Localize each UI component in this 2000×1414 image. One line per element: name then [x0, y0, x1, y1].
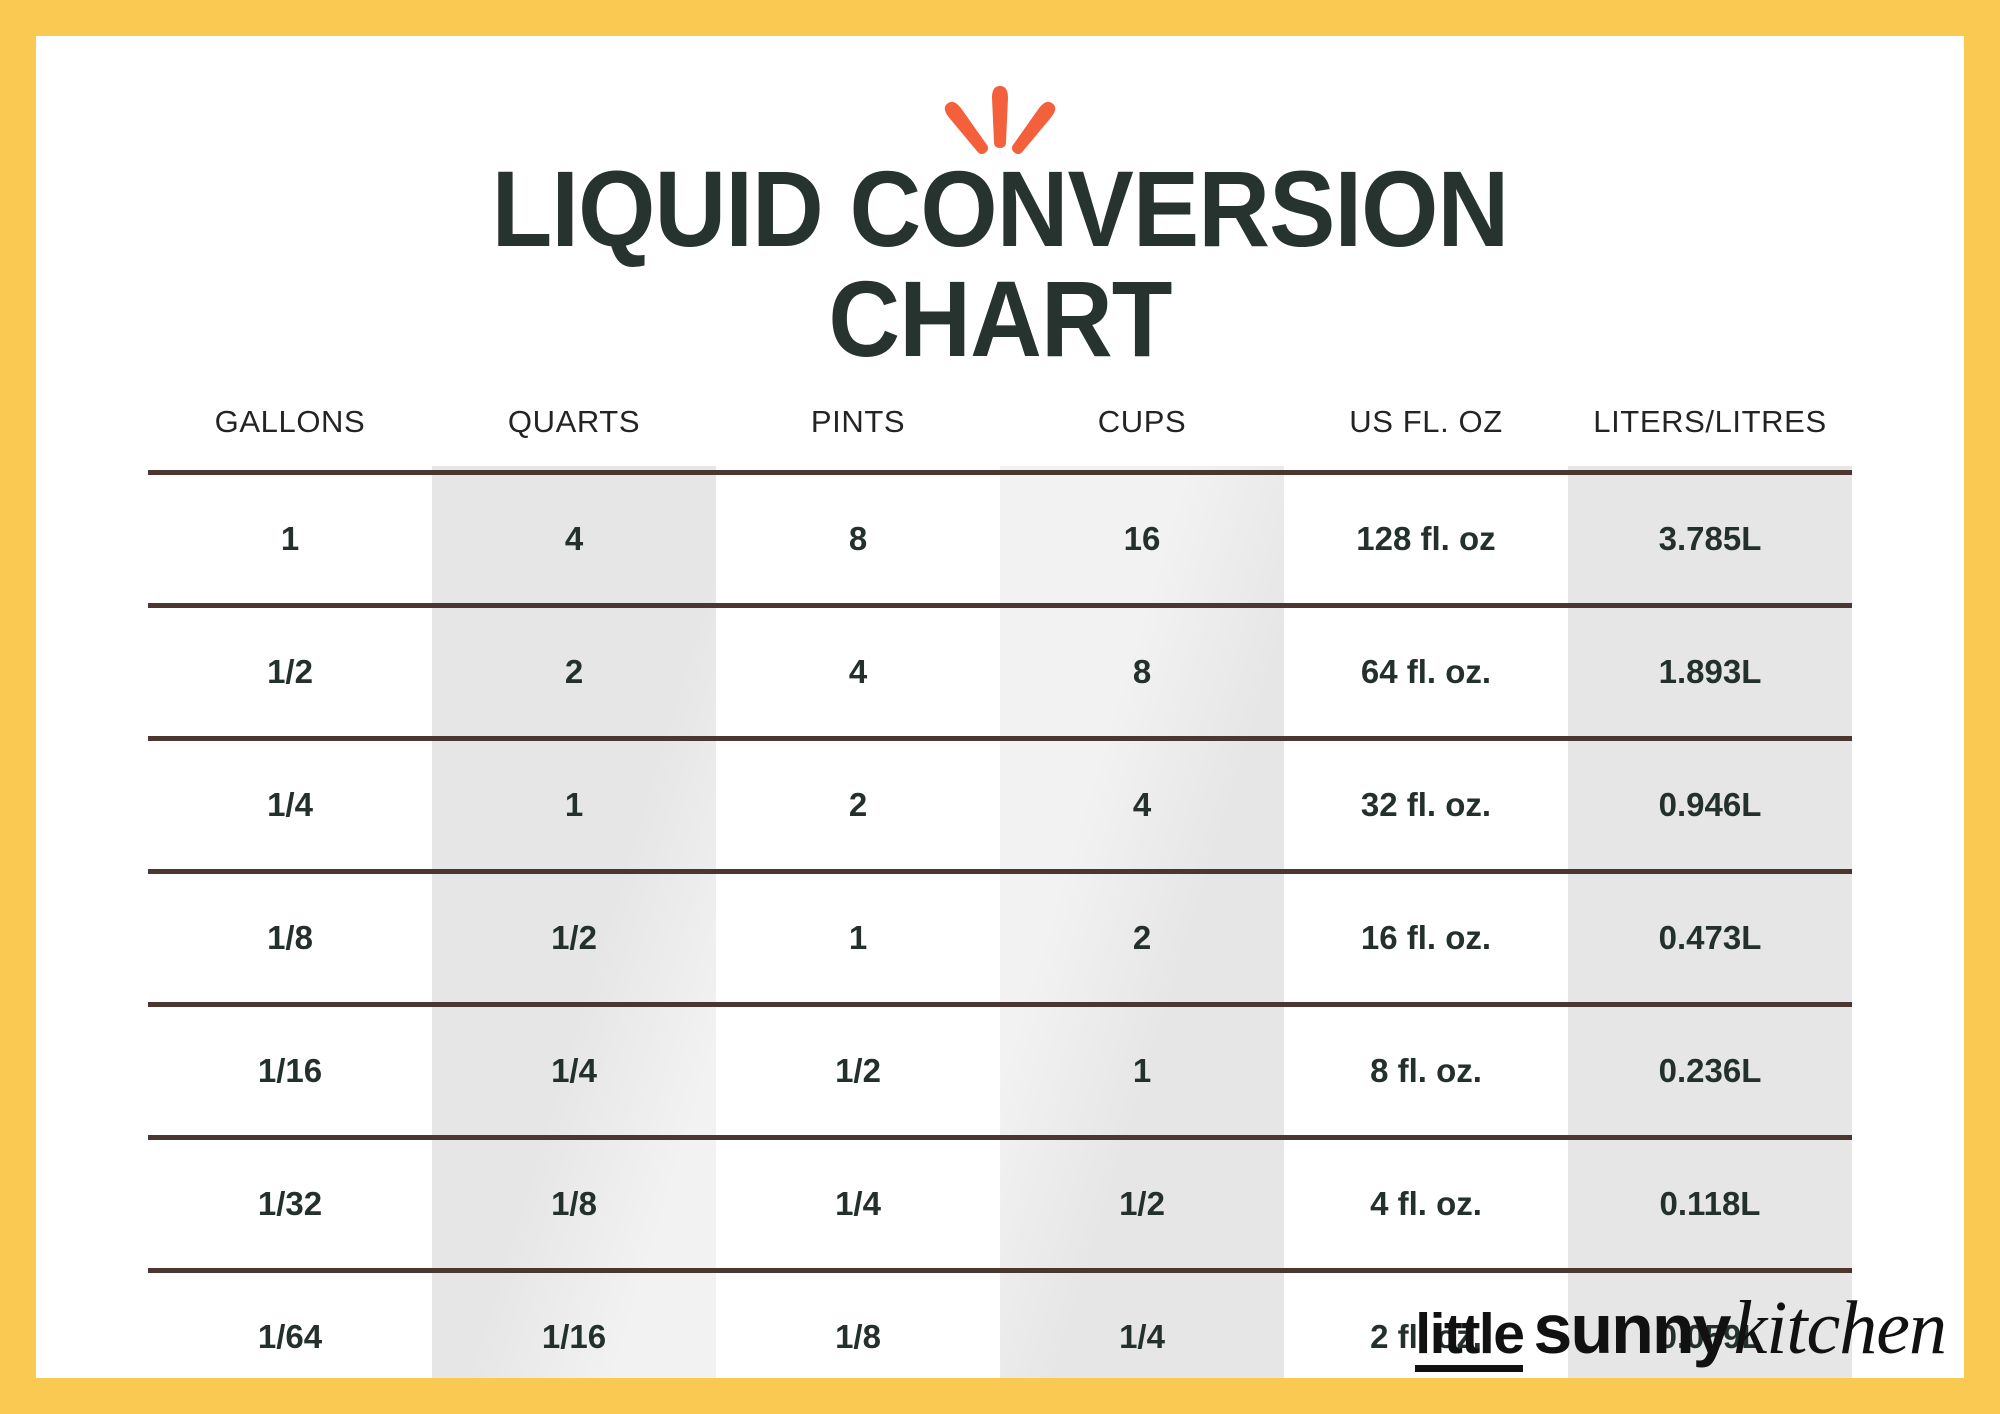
table-cell: 1/8: [432, 1138, 716, 1271]
table-cell: 0.946L: [1568, 739, 1852, 872]
page-title: LIQUID CONVERSION CHART: [36, 154, 1964, 374]
table-cell: 1/2: [1000, 1138, 1284, 1271]
table-cell: 1/4: [716, 1138, 1000, 1271]
brand-logo[interactable]: little sunny kitchen: [1415, 1290, 1946, 1372]
table-row: 1/161/41/218 fl. oz.0.236L: [148, 1005, 1852, 1138]
table-body: 14816128 fl. oz3.785L1/224864 fl. oz.1.8…: [148, 473, 1852, 1379]
table-cell: 8: [716, 473, 1000, 606]
table-cell: 3.785L: [1568, 473, 1852, 606]
column-header-us-fl-oz: US FL. OZ: [1284, 404, 1568, 473]
table-cell: 1/64: [148, 1271, 432, 1379]
table-cell: 8: [1000, 606, 1284, 739]
table-cell: 128 fl. oz: [1284, 473, 1568, 606]
column-header-gallons: GALLONS: [148, 404, 432, 473]
table-cell: 1: [432, 739, 716, 872]
table-cell: 4: [716, 606, 1000, 739]
table-cell: 32 fl. oz.: [1284, 739, 1568, 872]
table-row: 1/81/21216 fl. oz.0.473L: [148, 872, 1852, 1005]
column-header-pints: PINTS: [716, 404, 1000, 473]
table-cell: 2: [1000, 872, 1284, 1005]
logo-word-sunny: sunny: [1533, 1294, 1729, 1364]
column-header-liters-litres: LITERS/LITRES: [1568, 404, 1852, 473]
table-cell: 0.118L: [1568, 1138, 1852, 1271]
poster-root: LIQUID CONVERSION CHART GALLONSQUARTSPIN…: [0, 0, 2000, 1414]
table-cell: 1/16: [432, 1271, 716, 1379]
logo-word-little: little: [1415, 1306, 1523, 1372]
table-row: 1/224864 fl. oz.1.893L: [148, 606, 1852, 739]
table-cell: 8 fl. oz.: [1284, 1005, 1568, 1138]
table-cell: 1/2: [148, 606, 432, 739]
column-header-cups: CUPS: [1000, 404, 1284, 473]
table-cell: 1/4: [1000, 1271, 1284, 1379]
poster-canvas: LIQUID CONVERSION CHART GALLONSQUARTSPIN…: [36, 36, 1964, 1378]
table-cell: 1/2: [432, 872, 716, 1005]
title-line-1: LIQUID CONVERSION: [113, 154, 1887, 264]
table-cell: 4: [432, 473, 716, 606]
table-cell: 1.893L: [1568, 606, 1852, 739]
table-row: 14816128 fl. oz3.785L: [148, 473, 1852, 606]
logo-word-kitchen: kitchen: [1734, 1290, 1946, 1366]
table-header: GALLONSQUARTSPINTSCUPSUS FL. OZLITERS/LI…: [148, 404, 1852, 473]
header-row: GALLONSQUARTSPINTSCUPSUS FL. OZLITERS/LI…: [148, 404, 1852, 473]
column-header-quarts: QUARTS: [432, 404, 716, 473]
table-cell: 1: [1000, 1005, 1284, 1138]
table-cell: 1: [148, 473, 432, 606]
table-cell: 1: [716, 872, 1000, 1005]
table-cell: 4: [1000, 739, 1284, 872]
conversion-table-wrapper: GALLONSQUARTSPINTSCUPSUS FL. OZLITERS/LI…: [148, 404, 1852, 1378]
table-cell: 1/4: [432, 1005, 716, 1138]
table-cell: 0.473L: [1568, 872, 1852, 1005]
table-cell: 1/2: [716, 1005, 1000, 1138]
title-line-2: CHART: [113, 264, 1887, 374]
table-cell: 16: [1000, 473, 1284, 606]
table-cell: 1/32: [148, 1138, 432, 1271]
table-cell: 2: [716, 739, 1000, 872]
table-cell: 4 fl. oz.: [1284, 1138, 1568, 1271]
table-cell: 16 fl. oz.: [1284, 872, 1568, 1005]
table-cell: 1/8: [716, 1271, 1000, 1379]
conversion-table: GALLONSQUARTSPINTSCUPSUS FL. OZLITERS/LI…: [148, 404, 1852, 1378]
table-cell: 1/16: [148, 1005, 432, 1138]
table-cell: 1/4: [148, 739, 432, 872]
table-cell: 2: [432, 606, 716, 739]
table-row: 1/321/81/41/24 fl. oz.0.118L: [148, 1138, 1852, 1271]
table-cell: 1/8: [148, 872, 432, 1005]
table-row: 1/412432 fl. oz.0.946L: [148, 739, 1852, 872]
table-cell: 64 fl. oz.: [1284, 606, 1568, 739]
table-cell: 0.236L: [1568, 1005, 1852, 1138]
